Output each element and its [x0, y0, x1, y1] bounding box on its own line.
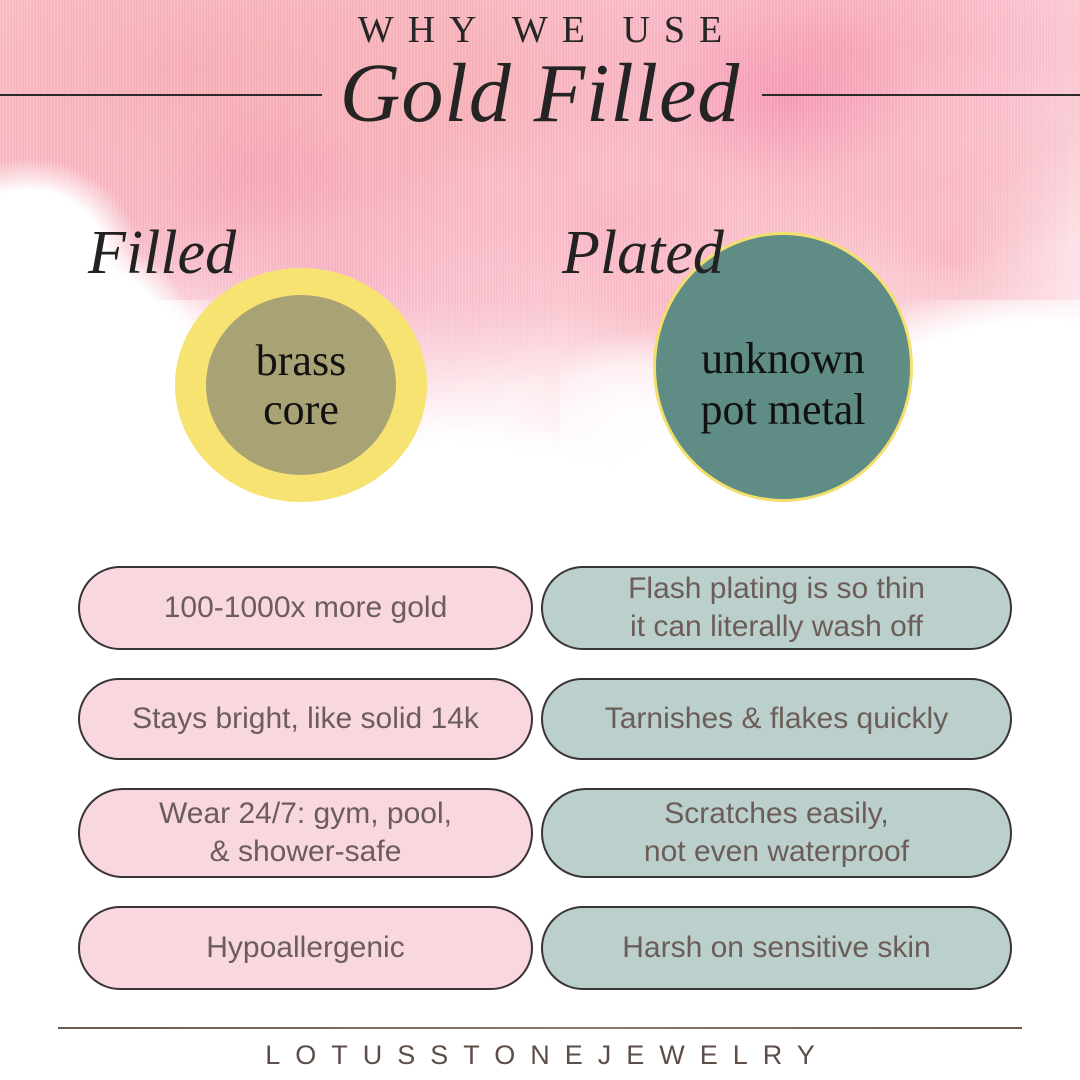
filled-ring-diagram: brasscore — [175, 268, 427, 502]
header-kicker: WHY WE USE — [0, 8, 1080, 52]
pill-row: Wear 24/7: gym, pool,& shower-safe Scrat… — [78, 788, 1012, 878]
pill-filled-benefit: Wear 24/7: gym, pool,& shower-safe — [78, 788, 533, 878]
pill-filled-benefit: Stays bright, like solid 14k — [78, 678, 533, 760]
header-rule-right — [762, 94, 1080, 96]
pill-filled-benefit: Hypoallergenic — [78, 906, 533, 990]
watercolor-edge-bottom — [0, 300, 1080, 560]
pill-plated-drawback: Flash plating is so thinit can literally… — [541, 566, 1012, 650]
header-rule-left — [0, 94, 322, 96]
pill-plated-drawback: Scratches easily,not even waterproof — [541, 788, 1012, 878]
pill-plated-drawback: Tarnishes & flakes quickly — [541, 678, 1012, 760]
category-label-plated: Plated — [562, 218, 724, 289]
footer-divider — [58, 1027, 1022, 1029]
brand-wordmark: LOTUSSTONEJEWELRY — [0, 1040, 1080, 1071]
pill-plated-drawback: Harsh on sensitive skin — [541, 906, 1012, 990]
filled-core-circle: brasscore — [206, 295, 396, 475]
pill-row: Hypoallergenic Harsh on sensitive skin — [78, 906, 1012, 990]
filled-core-label: brasscore — [256, 336, 346, 435]
category-label-filled: Filled — [88, 218, 236, 289]
plated-core-label: unknownpot metal — [701, 333, 866, 435]
comparison-pill-grid: 100-1000x more gold Flash plating is so … — [78, 566, 1012, 1018]
pill-filled-benefit: 100-1000x more gold — [78, 566, 533, 650]
pill-row: Stays bright, like solid 14k Tarnishes &… — [78, 678, 1012, 760]
pill-row: 100-1000x more gold Flash plating is so … — [78, 566, 1012, 650]
infographic-canvas: WHY WE USE Gold Filled Filled Plated bra… — [0, 0, 1080, 1080]
